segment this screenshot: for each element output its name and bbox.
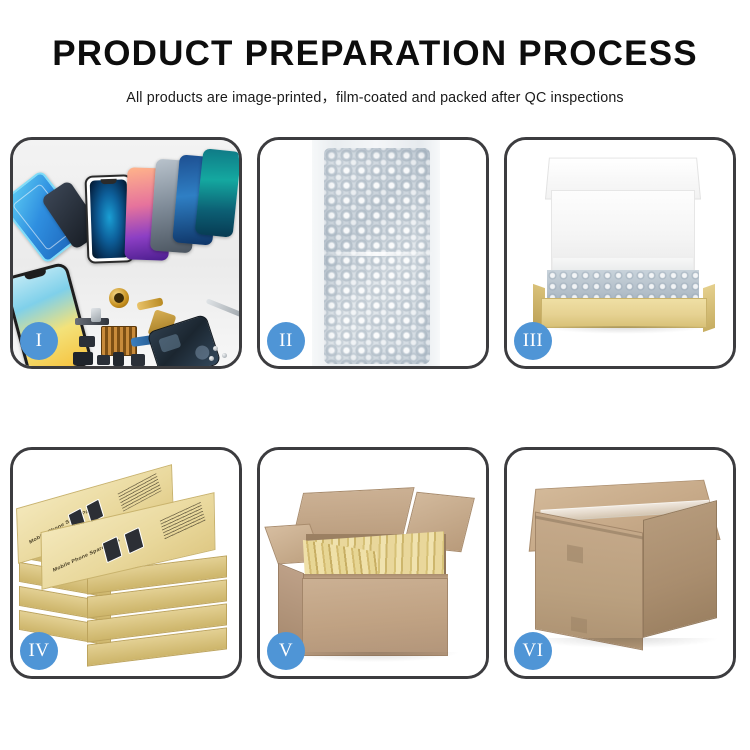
sealed-carton-shadow [531,638,717,648]
connector-part-2 [73,352,93,365]
box-print-phone-image-front-2 [124,527,145,554]
process-step-panel-4: Mobile Phone Spare Parts Mobile Phone Sp… [10,447,242,679]
inner-box-shadow [541,326,707,334]
carton-shadow [290,652,458,662]
box-print-text-lines-front [160,502,206,541]
process-step-panel-2: II [257,137,489,369]
process-step-panel-6: VI [504,447,736,679]
step-badge-4: IV [20,632,58,670]
step-badge-1: I [20,322,58,360]
page-title: PRODUCT PREPARATION PROCESS [0,36,750,73]
bubble-wrap-sheet [324,148,430,364]
connector-part-3 [97,355,110,365]
step-badge-5: V [267,632,305,670]
screw-part-1 [213,346,218,351]
speaker-coil-part [109,288,129,308]
carton-body-front [302,578,448,656]
process-step-panel-1: I [10,137,242,369]
repair-tool [206,298,239,318]
inner-box-base-front [541,298,707,328]
teal-curved-phone [195,148,239,238]
connector-part-1 [79,336,95,347]
page-header: PRODUCT PREPARATION PROCESS All products… [0,0,750,107]
process-step-grid: I II III [10,137,740,679]
screw-part-2 [222,353,227,358]
sealed-carton-tab-1 [567,544,583,563]
step-badge-2: II [267,322,305,360]
flex-cable-part-1 [136,297,163,310]
bubble-wrap-seam [322,252,432,256]
process-step-panel-3: III [504,137,736,369]
step-badge-3: III [514,322,552,360]
inner-box-bubble-wrap [547,270,699,300]
metal-bracket-part [91,308,101,322]
step-badge-6: VI [514,632,552,670]
screw-part-3 [209,356,214,361]
sealed-carton-right-face [643,500,717,638]
connector-part-5 [131,354,145,366]
process-step-panel-5: V [257,447,489,679]
sealed-carton-tab-2 [571,616,587,633]
page-subtitle: All products are image-printed，film-coat… [0,86,750,107]
sealed-carton-front-face [535,512,643,651]
connector-part-4 [113,352,124,366]
